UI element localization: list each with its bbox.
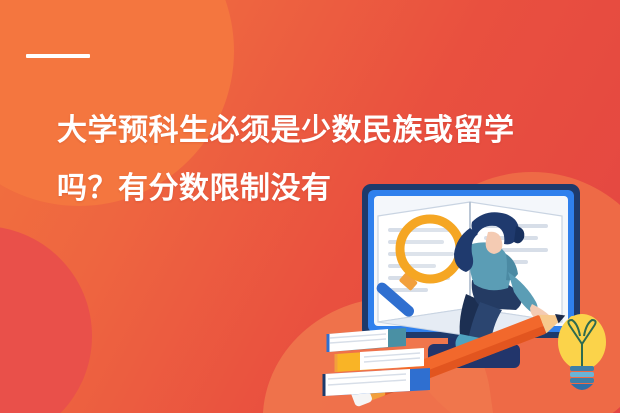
decorative-circle-bottom-left: [0, 226, 92, 413]
lightbulb-icon: [558, 314, 606, 390]
accent-rule: [26, 54, 90, 58]
page-title: 大学预科生必须是少数民族或留学吗？有分数限制没有: [57, 102, 569, 218]
book-stack: [324, 328, 430, 396]
poster-canvas: 大学预科生必须是少数民族或留学吗？有分数限制没有: [0, 0, 620, 413]
